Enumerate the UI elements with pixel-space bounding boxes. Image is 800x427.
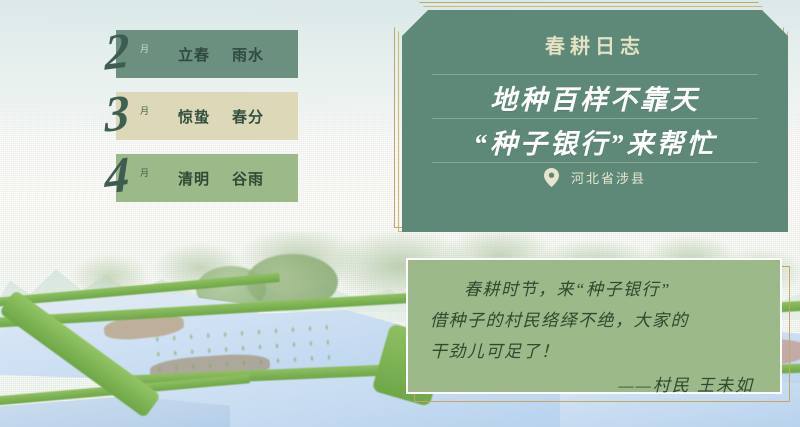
quote-line-1: 春耕时节，来“种子银行” (430, 274, 671, 305)
solar-term-lichun: 立春 (178, 44, 210, 65)
rule-line-1 (432, 74, 758, 75)
map-pin-icon (544, 168, 559, 187)
poster-stage: 2 月 立春 雨水 3 月 惊蛰 春分 4 月 清明 谷雨 春耕 (0, 0, 800, 427)
page-title: 春耕日志 (428, 30, 762, 59)
headline: 地种百样不靠天 “种子银行”来帮忙 (402, 78, 788, 166)
location-label: 河北省涉县 (571, 168, 646, 187)
quote-attribution: ——村民 王未如 (430, 371, 758, 396)
month-number-4: 4 (86, 142, 149, 212)
solar-term-guyu: 谷雨 (232, 168, 264, 189)
quote-line-3: 干劲儿可足了！ (430, 336, 758, 367)
quote-text: 春耕时节，来“种子银行” 借种子的村民络绎不绝，大家的 干劲儿可足了！ (430, 274, 758, 367)
calendar-row-april: 4 月 清明 谷雨 (116, 154, 298, 202)
solar-terms-march: 惊蛰 春分 (178, 106, 264, 127)
calendar-row-march: 3 月 惊蛰 春分 (116, 92, 298, 140)
month-char-2: 月 (138, 44, 151, 53)
solar-term-jingzhe: 惊蛰 (178, 106, 210, 127)
quote-line-2: 借种子的村民络绎不绝，大家的 (430, 305, 758, 336)
location-row: 河北省涉县 (402, 168, 788, 187)
month-char-3: 月 (138, 106, 151, 115)
solar-terms-april: 清明 谷雨 (178, 168, 264, 189)
month-number-3: 3 (86, 80, 149, 150)
solar-terms-calendar: 2 月 立春 雨水 3 月 惊蛰 春分 4 月 清明 谷雨 (84, 30, 298, 202)
solar-term-yushui: 雨水 (232, 44, 264, 65)
solar-term-chunfen: 春分 (232, 106, 264, 127)
calendar-row-february: 2 月 立春 雨水 (116, 30, 298, 78)
month-char-4: 月 (138, 168, 151, 177)
solar-term-qingming: 清明 (178, 168, 210, 189)
headline-line-1: 地种百样不靠天 (402, 78, 788, 122)
headline-line-2: “种子银行”来帮忙 (402, 122, 788, 166)
quote-card: 春耕时节，来“种子银行” 借种子的村民络绎不绝，大家的 干劲儿可足了！ ——村民… (406, 258, 782, 394)
solar-terms-february: 立春 雨水 (178, 44, 264, 65)
